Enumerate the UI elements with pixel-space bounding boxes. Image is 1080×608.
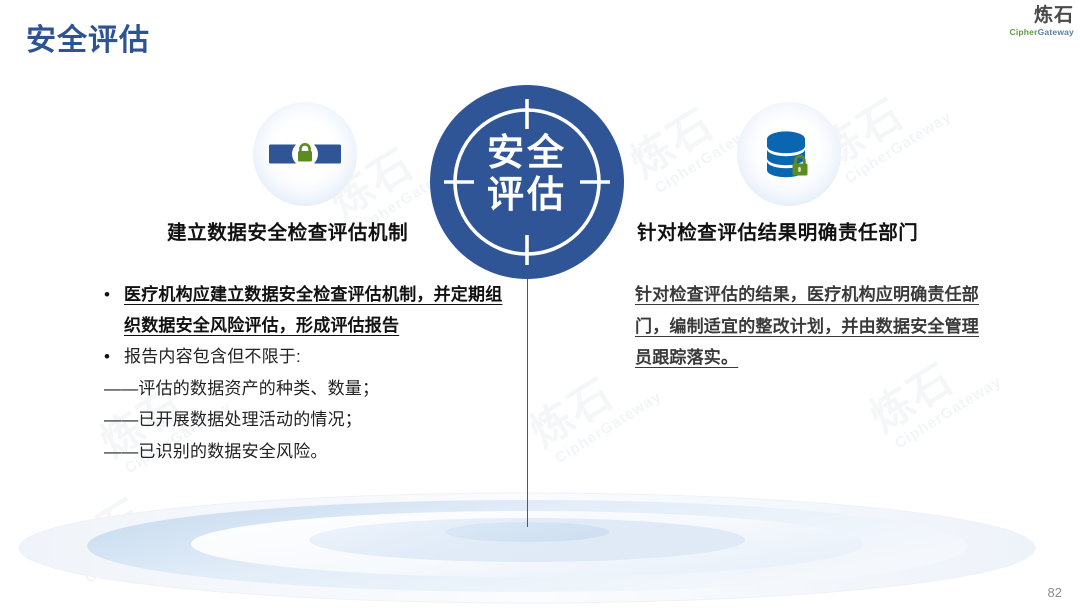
column-body-left: • 医疗机构应建立数据安全检查评估机制，并定期组织数据安全风险评估，形成评估报告…: [104, 279, 508, 467]
watermark-en: CipherGateway: [552, 388, 665, 467]
brand-logo: 炼石 CipherGateway: [1010, 6, 1075, 37]
page-title: 安全评估: [26, 15, 150, 59]
ripple-base-decoration: [0, 486, 1080, 608]
sub-item: ——评估的数据资产的种类、数量；: [104, 373, 508, 405]
bullet-item: • 医疗机构应建立数据安全检查评估机制，并定期组织数据安全风险评估，形成评估报告: [104, 279, 508, 341]
column-heading-right: 针对检查评估结果明确责任部门: [637, 216, 918, 245]
watermark-en: CipherGateway: [842, 108, 955, 187]
brand-logo-en-gateway: Gateway: [1038, 27, 1074, 37]
database-lock-icon: [737, 102, 841, 206]
brand-logo-cn: 炼石: [1010, 6, 1075, 25]
watermark-en: CipherGateway: [82, 508, 195, 587]
watermark-en: CipherGateway: [892, 373, 1005, 452]
crosshair-target-icon: [430, 85, 624, 279]
watermark: 炼石 CipherGateway: [54, 471, 195, 591]
column-heading-left: 建立数据安全检查评估机制: [167, 216, 408, 245]
center-target: 安全 评估: [430, 85, 624, 279]
brand-logo-en: CipherGateway: [1010, 28, 1075, 37]
page-number: 82: [1048, 585, 1062, 600]
bullet-text: 报告内容包含但不限于:: [124, 341, 301, 373]
sub-item: ——已开展数据处理活动的情况；: [104, 404, 508, 436]
column-body-right: 针对检查评估的结果，医疗机构应明确责任部门，编制适宜的整改计划，并由数据安全管理…: [635, 279, 985, 374]
bullet-marker: •: [104, 279, 124, 310]
watermark-cn: 炼石: [54, 471, 185, 575]
bullet-item: • 报告内容包含但不限于:: [104, 341, 508, 373]
slide-canvas: 炼石 CipherGateway 炼石 CipherGateway 炼石 Cip…: [0, 0, 1080, 608]
sub-item: ——已识别的数据安全风险。: [104, 436, 508, 468]
lock-bar-icon: [253, 102, 357, 206]
icon-disc-right: [737, 102, 841, 206]
brand-logo-en-cipher: Cipher: [1010, 27, 1038, 37]
watermark-cn: 炼石: [624, 81, 755, 185]
bullet-text: 医疗机构应建立数据安全检查评估机制，并定期组织数据安全风险评估，形成评估报告: [124, 279, 508, 341]
connector-line: [527, 262, 528, 527]
bullet-marker: •: [104, 341, 124, 372]
icon-disc-left: [253, 102, 357, 206]
